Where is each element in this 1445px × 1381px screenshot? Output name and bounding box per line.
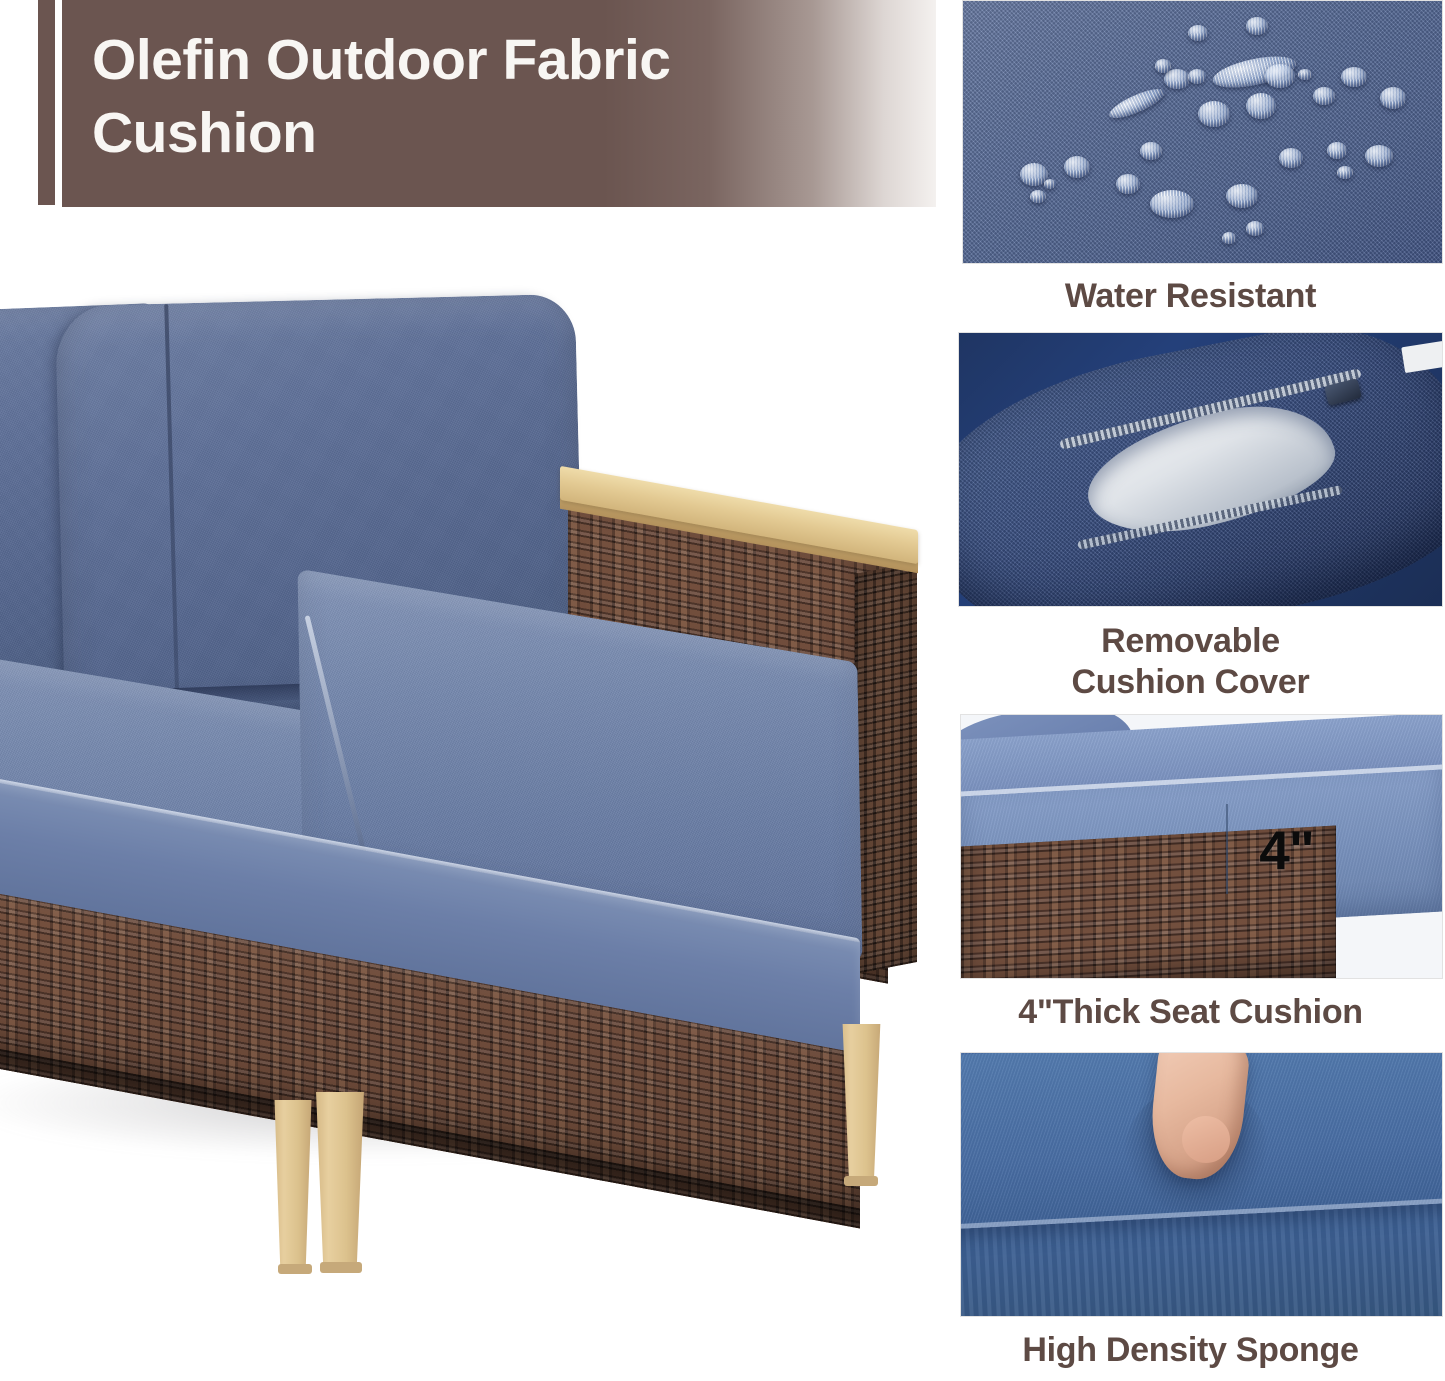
- feature-photo-water-resistant: [962, 0, 1443, 264]
- header-banner: Olefin Outdoor Fabric Cushion: [0, 0, 936, 208]
- water-droplet-icon: [1198, 101, 1230, 127]
- water-droplet-icon: [1337, 166, 1353, 179]
- sofa-leg-front-left: [272, 1100, 314, 1272]
- measurement-guide-line: [1226, 804, 1228, 893]
- feature-block-high-density-sponge: High Density Sponge: [936, 1052, 1445, 1371]
- water-droplet-icon: [1246, 93, 1276, 119]
- feature-photo-removable-cover: [958, 332, 1443, 607]
- water-droplet-icon: [1222, 232, 1236, 244]
- water-droplet-icon: [1246, 221, 1264, 236]
- armrest-side-cap: [855, 562, 917, 974]
- water-droplet-icon: [1064, 156, 1090, 178]
- feature-caption-removable-cover: Removable Cushion Cover: [936, 621, 1445, 703]
- sofa-foot-front-left: [278, 1264, 312, 1274]
- sofa-illustration: [0, 208, 936, 1381]
- water-droplet-icon: [1116, 174, 1140, 194]
- header-accent-bar: [38, 0, 55, 205]
- feature-block-water-resistant: Water Resistant: [936, 0, 1445, 317]
- water-droplet-icon: [1155, 59, 1171, 73]
- sofa-foot-rear: [844, 1176, 878, 1186]
- feature-block-thick-cushion: 4" 4"Thick Seat Cushion: [936, 714, 1445, 1033]
- thickness-measurement-label: 4": [1259, 818, 1314, 882]
- water-droplet-icon: [1246, 17, 1268, 35]
- feature-block-removable-cover: Removable Cushion Cover: [936, 332, 1445, 703]
- feature-photo-thick-cushion: 4": [960, 714, 1443, 979]
- water-droplet-icon: [1279, 148, 1303, 168]
- sofa-leg-front-right: [314, 1092, 366, 1270]
- feature-caption-thick-cushion: 4"Thick Seat Cushion: [936, 992, 1445, 1033]
- feature-caption-high-density-sponge: High Density Sponge: [936, 1330, 1445, 1371]
- page-title: Olefin Outdoor Fabric Cushion: [92, 24, 852, 170]
- water-droplet-icon: [1030, 190, 1046, 203]
- sofa-foot-front-right: [320, 1262, 362, 1273]
- water-droplet-icon: [1341, 67, 1367, 87]
- water-droplet-icon: [1150, 190, 1194, 218]
- feature-caption-water-resistant: Water Resistant: [936, 276, 1445, 317]
- feature-column: Water Resistant Removable Cushion Cover …: [936, 0, 1445, 1381]
- water-droplet-icon: [1188, 25, 1208, 41]
- feature-photo-high-density-sponge: [960, 1052, 1443, 1317]
- water-fabric-texture: [963, 1, 1442, 263]
- water-droplet-icon: [1265, 64, 1295, 88]
- main-product-image: [0, 208, 936, 1381]
